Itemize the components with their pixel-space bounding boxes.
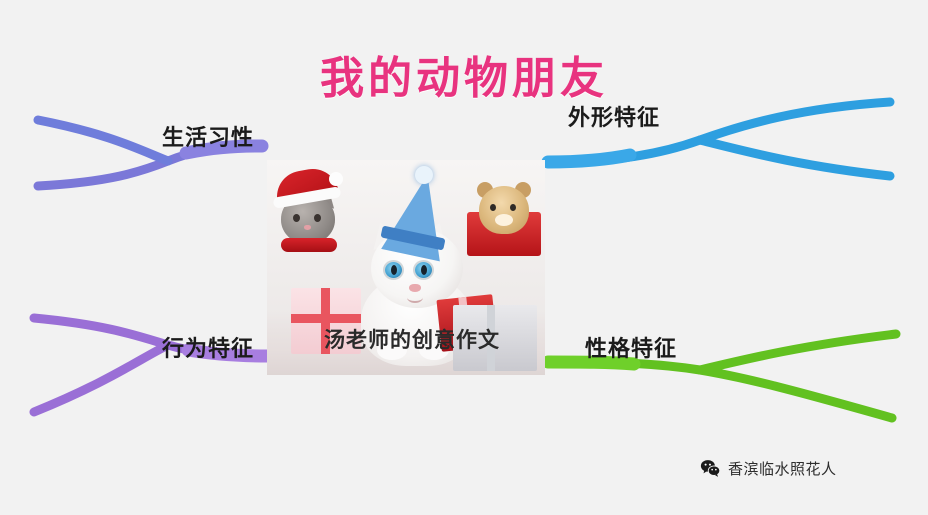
mindmap-canvas: 我的动物朋友 生活习性 外形特征 行为特征 性格特征 (0, 0, 928, 515)
watermark-text: 香滨临水照花人 (728, 458, 837, 479)
santa-kitten-icon (273, 168, 349, 252)
branch-label-bottom-left[interactable]: 行为特征 (162, 331, 254, 363)
page-title: 我的动物朋友 (0, 42, 928, 106)
photo-caption: 汤老师的创意作文 (324, 324, 500, 354)
branch-label-top-right[interactable]: 外形特征 (568, 100, 660, 132)
wechat-icon (700, 458, 721, 479)
watermark: 香滨临水照花人 (700, 458, 837, 479)
branch-label-top-left[interactable]: 生活习性 (162, 120, 254, 152)
branch-label-bottom-right[interactable]: 性格特征 (585, 331, 677, 363)
